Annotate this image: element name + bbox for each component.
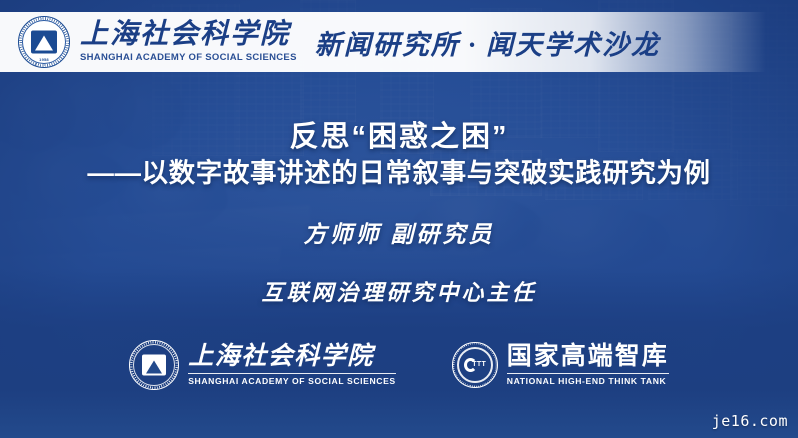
slide-title: 反思“困惑之困” <box>0 120 798 155</box>
footer-logo-text: 上海社会科学院 SHANGHAI ACADEMY OF SOCIAL SCIEN… <box>188 344 396 386</box>
footer-logo-sass: 上海社会科学院 SHANGHAI ACADEMY OF SOCIAL SCIEN… <box>129 340 396 390</box>
think-tank-emblem-icon: TTT <box>452 342 498 388</box>
slide-main-content: 反思“困惑之困” ——以数字故事讲述的日常叙事与突破实践研究为例 方师师 副研究… <box>0 120 798 307</box>
footer-name-cn: 国家高端智库 <box>507 344 669 369</box>
speaker-role: 互联网治理研究中心主任 <box>0 275 798 307</box>
header-content: 1958 上海社会科学院 SHANGHAI ACADEMY OF SOCIAL … <box>0 16 660 68</box>
emblem-year: 1958 <box>39 57 49 62</box>
emblem-gate-glyph <box>31 31 57 54</box>
institution-name-en: SHANGHAI ACADEMY OF SOCIAL SCIENCES <box>80 53 297 63</box>
institution-name-block: 上海社会科学院 SHANGHAI ACADEMY OF SOCIAL SCIEN… <box>80 21 297 63</box>
header-banner: 1958 上海社会科学院 SHANGHAI ACADEMY OF SOCIAL … <box>0 12 798 72</box>
sass-emblem-icon: 1958 <box>18 16 70 68</box>
department-series-label: 新闻研究所 · 闻天学术沙龙 <box>315 23 660 62</box>
institution-name-cn: 上海社会科学院 <box>80 21 297 49</box>
emblem-gate-glyph <box>142 354 166 375</box>
footer-name-en: SHANGHAI ACADEMY OF SOCIAL SCIENCES <box>188 377 396 386</box>
footer-logo-text: 国家高端智库 NATIONAL HIGH-END THINK TANK <box>507 344 669 386</box>
site-watermark: je16.com <box>712 412 788 430</box>
sass-emblem-icon <box>129 340 179 390</box>
footer-name-cn: 上海社会科学院 <box>188 344 396 369</box>
presentation-slide: 1958 上海社会科学院 SHANGHAI ACADEMY OF SOCIAL … <box>0 0 798 438</box>
footer-name-en: NATIONAL HIGH-END THINK TANK <box>507 377 669 386</box>
footer-logo-think-tank: TTT 国家高端智库 NATIONAL HIGH-END THINK TANK <box>452 342 669 388</box>
slide-subtitle: ——以数字故事讲述的日常叙事与突破实践研究为例 <box>0 157 798 191</box>
emblem-ttt-glyph: TTT <box>472 361 486 368</box>
footer-logo-row: 上海社会科学院 SHANGHAI ACADEMY OF SOCIAL SCIEN… <box>0 340 798 390</box>
divider <box>188 373 396 374</box>
speaker-name: 方师师 副研究员 <box>0 215 798 249</box>
divider <box>507 373 669 374</box>
